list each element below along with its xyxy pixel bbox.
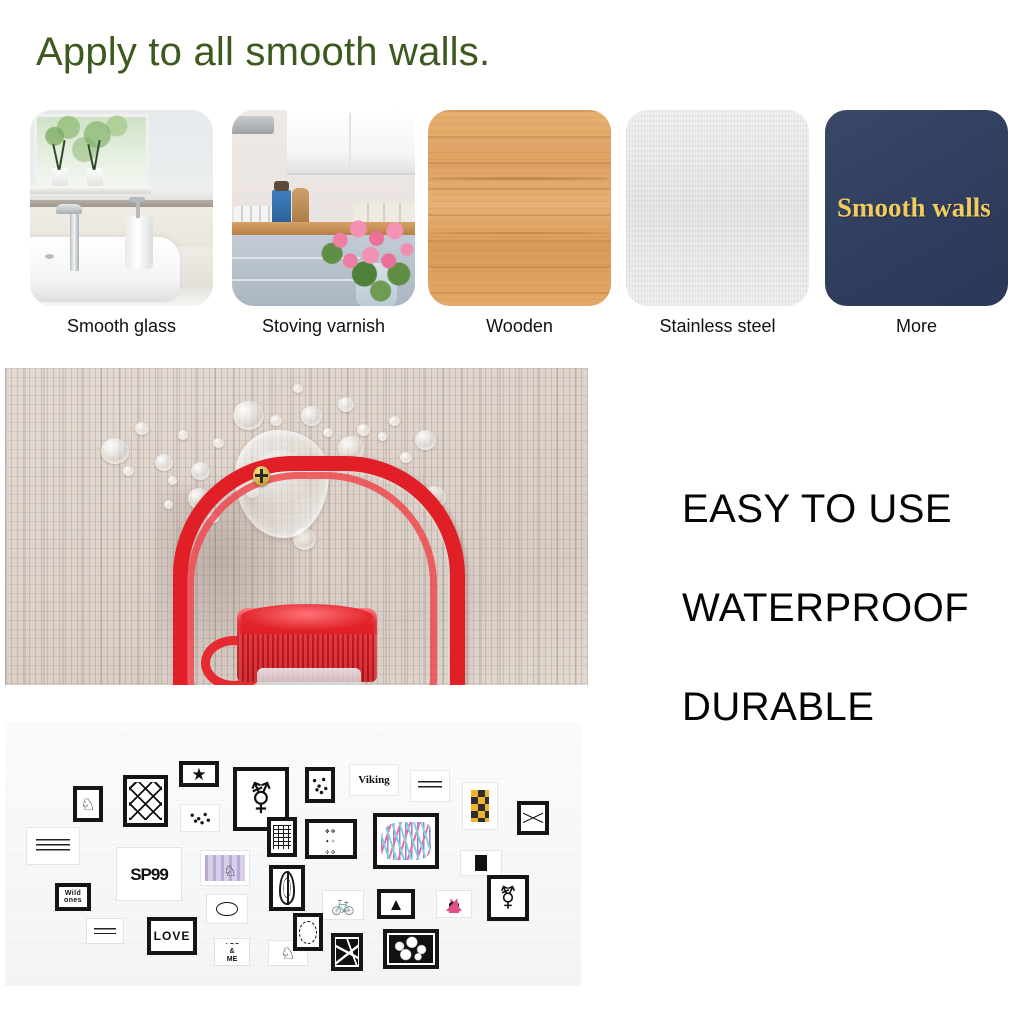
surface-tile-label: Wooden bbox=[428, 316, 611, 337]
picture-frame bbox=[27, 828, 79, 864]
bathroom-photo bbox=[30, 110, 213, 306]
picture-frame: ♘ bbox=[201, 851, 249, 885]
bottle-body bbox=[257, 668, 361, 685]
surface-tile-stoving-varnish[interactable]: Stoving varnish bbox=[232, 110, 428, 306]
picture-frame bbox=[267, 817, 297, 857]
picture-frame bbox=[463, 783, 497, 829]
picture-frame bbox=[373, 813, 439, 869]
surface-tile-label: Stainless steel bbox=[626, 316, 809, 337]
picture-frame bbox=[87, 919, 123, 943]
surface-tiles-row: Smooth glass Stoving varnish Wooden Stai… bbox=[0, 110, 1024, 360]
picture-frame bbox=[181, 805, 219, 831]
picture-frame: ▲ bbox=[377, 889, 415, 919]
surface-tile-more[interactable]: Smooth walls More bbox=[825, 110, 1021, 306]
picture-frame: Viking bbox=[350, 765, 398, 795]
hook-product-photo bbox=[5, 368, 588, 685]
picture-frame bbox=[207, 895, 247, 923]
picture-frame: LOVE bbox=[147, 917, 197, 955]
picture-frame bbox=[293, 913, 323, 951]
steel-swatch bbox=[626, 110, 809, 306]
surface-tile-label: More bbox=[825, 316, 1008, 337]
picture-frame: 🚲 bbox=[323, 891, 363, 919]
picture-frame bbox=[331, 933, 363, 971]
picture-frame bbox=[383, 929, 439, 969]
bottle-cap-top bbox=[241, 604, 373, 630]
picture-frame bbox=[305, 767, 335, 803]
surface-tile-stainless-steel[interactable]: Stainless steel bbox=[626, 110, 822, 306]
page-title: Apply to all smooth walls. bbox=[36, 30, 490, 75]
picture-frame bbox=[437, 891, 471, 917]
picture-frame bbox=[269, 865, 305, 911]
feature-item: DURABLE bbox=[682, 685, 969, 730]
gallery-wall-photo: ♘ ★ ⚧ SP99 Wildones ♘ LOVE YOU&ME ♘ Viki… bbox=[5, 723, 581, 986]
picture-frame: Wildones bbox=[55, 883, 91, 911]
picture-frame: ✤✥✦✧✢✣ bbox=[305, 819, 357, 859]
picture-frame: SP99 bbox=[117, 848, 181, 900]
picture-frame bbox=[123, 775, 168, 827]
picture-frame: ▐▌ bbox=[461, 851, 501, 875]
smooth-walls-card: Smooth walls bbox=[825, 110, 1008, 306]
picture-frame: ♘ bbox=[73, 786, 103, 822]
picture-frame: ⚧ bbox=[487, 875, 529, 921]
picture-frame bbox=[517, 801, 549, 835]
surface-tile-smooth-glass[interactable]: Smooth glass bbox=[30, 110, 226, 306]
surface-tile-label: Stoving varnish bbox=[232, 316, 415, 337]
feature-list: EASY TO USE WATERPROOF DURABLE bbox=[682, 487, 969, 784]
surface-tile-label: Smooth glass bbox=[30, 316, 213, 337]
feature-item: EASY TO USE bbox=[682, 487, 969, 532]
picture-frame: ★ bbox=[179, 761, 219, 787]
surface-tile-wooden[interactable]: Wooden bbox=[428, 110, 624, 306]
kitchen-photo bbox=[232, 110, 415, 306]
picture-frame: YOU&ME bbox=[215, 939, 249, 965]
feature-item: WATERPROOF bbox=[682, 586, 969, 631]
screw-icon bbox=[253, 466, 270, 486]
smooth-walls-card-text: Smooth walls bbox=[837, 193, 991, 224]
picture-frame bbox=[411, 771, 449, 801]
wood-swatch bbox=[428, 110, 611, 306]
